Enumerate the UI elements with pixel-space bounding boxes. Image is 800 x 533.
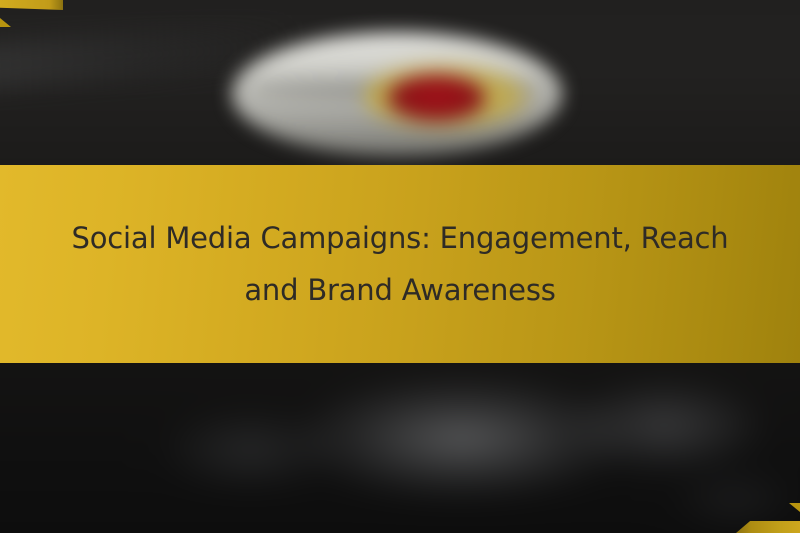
featured-image-card: Social Media Campaigns: Engagement, Reac… [0, 0, 800, 533]
page-title-line-1: Social Media Campaigns: Engagement, Reac… [70, 212, 730, 264]
page-title: Social Media Campaigns: Engagement, Reac… [70, 212, 730, 316]
background-dish-object [232, 32, 562, 156]
page-title-line-2: and Brand Awareness [70, 264, 730, 316]
dish-red-accent [387, 75, 486, 121]
title-band: Social Media Campaigns: Engagement, Reac… [0, 165, 800, 363]
